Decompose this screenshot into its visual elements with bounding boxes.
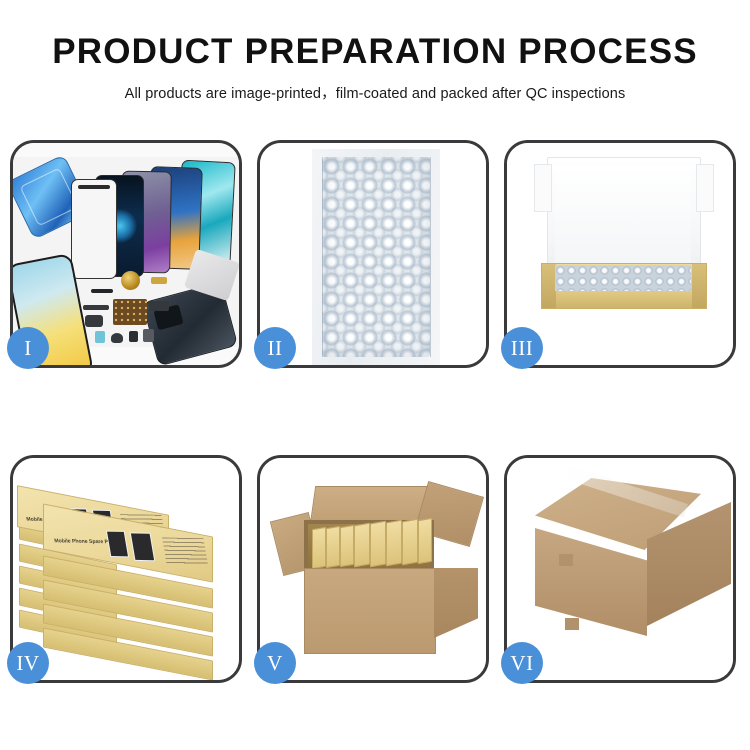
packed-box — [354, 523, 370, 568]
step-badge-6: VI — [501, 642, 543, 684]
page-title: PRODUCT PREPARATION PROCESS — [0, 34, 750, 71]
step-3-image — [507, 143, 733, 365]
carton-side-face — [434, 568, 478, 638]
printed-screen-image — [106, 531, 129, 558]
carton-front-face — [304, 568, 436, 654]
step-badge-4: IV — [7, 642, 49, 684]
step-badge-1: I — [7, 327, 49, 369]
process-step-3: III — [504, 140, 736, 368]
bubble-wrapped-contents-icon — [555, 265, 691, 291]
step-badge-2: II — [254, 327, 296, 369]
gold-connector-icon — [151, 277, 167, 284]
product-preparation-infographic: PRODUCT PREPARATION PROCESS All products… — [0, 0, 750, 750]
step-6-image — [507, 458, 733, 680]
speaker-coil-icon — [121, 271, 140, 290]
button-flex-icon — [149, 301, 169, 311]
spare-parts-group — [81, 271, 189, 363]
loudspeaker-icon — [143, 329, 154, 342]
camera-module-icon — [85, 315, 103, 327]
process-step-4: Mobile Phone Spare Parts Mobile Phone Sp… — [10, 455, 242, 683]
process-step-grid: I II III — [10, 140, 740, 683]
packed-box — [326, 526, 340, 568]
step-5-image — [260, 458, 486, 680]
packed-box — [418, 518, 432, 564]
process-step-1: I — [10, 140, 242, 368]
sim-tray-icon — [95, 331, 105, 343]
printed-spec-lines — [162, 537, 208, 564]
taptic-engine-icon — [111, 333, 123, 343]
packed-box — [386, 520, 402, 567]
carton-flap-tab — [559, 554, 573, 566]
flex-cable-icon — [83, 305, 109, 310]
header: PRODUCT PREPARATION PROCESS All products… — [0, 0, 750, 103]
foam-sheet-icon — [555, 167, 691, 263]
process-step-6: VI — [504, 455, 736, 683]
phone-screen-white-icon — [71, 179, 117, 279]
step-badge-5: V — [254, 642, 296, 684]
step-4-image: Mobile Phone Spare Parts Mobile Phone Sp… — [13, 458, 239, 680]
earpiece-mesh-icon — [91, 289, 113, 293]
vibrator-icon — [129, 331, 138, 342]
wrap-seam-right — [430, 157, 431, 357]
packed-box — [402, 519, 418, 566]
carton-flap-tab — [565, 618, 579, 630]
page-subtitle: All products are image-printed，film-coat… — [0, 82, 750, 103]
wrap-seam-left — [322, 157, 323, 357]
bubble-wrap-overlay — [322, 157, 430, 357]
screw-tray-icon — [113, 299, 147, 325]
process-step-2: II — [257, 140, 489, 368]
step-1-image — [13, 143, 239, 365]
step-2-image — [260, 143, 486, 365]
box-stack: Mobile Phone Spare Parts Mobile Phone Sp… — [15, 480, 239, 676]
printed-screen-image — [130, 532, 156, 561]
packed-box — [370, 521, 386, 568]
packed-box — [312, 527, 326, 569]
process-step-5: V — [257, 455, 489, 683]
step-badge-3: III — [501, 327, 543, 369]
packed-box — [340, 525, 354, 567]
